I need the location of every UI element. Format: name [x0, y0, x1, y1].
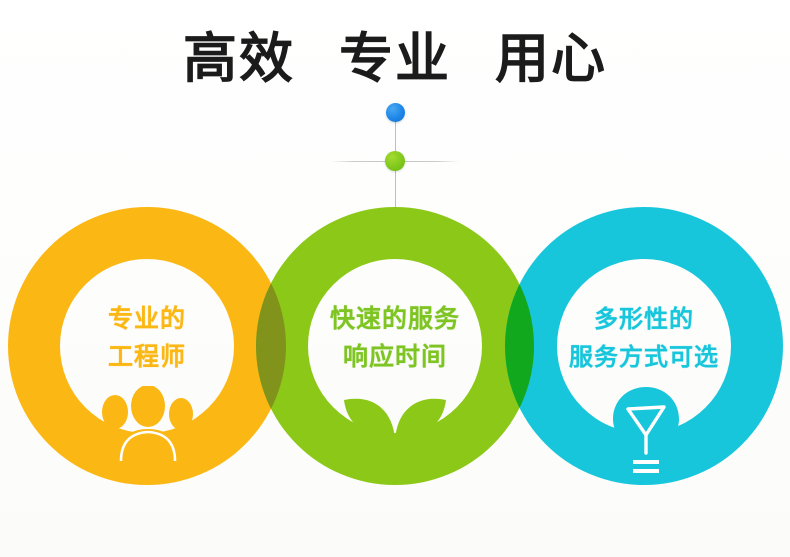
caption-2-line-1: 快速的服务 [330, 304, 460, 333]
caption-3-line-1: 多形性的 [594, 305, 694, 333]
people-group-icon [88, 386, 208, 461]
circle-caption-response: 快速的服务 响应时间 [290, 300, 500, 376]
caption-1-line-1: 专业的 [108, 304, 186, 333]
caption-3-line-2: 服务方式可选 [519, 338, 769, 376]
circle-caption-engineers: 专业的 工程师 [42, 300, 252, 376]
caption-2-line-2: 响应时间 [290, 338, 500, 376]
lightbulb-icon [607, 385, 685, 477]
infographic-canvas: 高效专业用心 [0, 0, 790, 557]
circle-caption-service-modes: 多形性的 服务方式可选 [519, 300, 769, 376]
caption-1-line-2: 工程师 [42, 338, 252, 376]
sprout-icon [333, 388, 457, 473]
